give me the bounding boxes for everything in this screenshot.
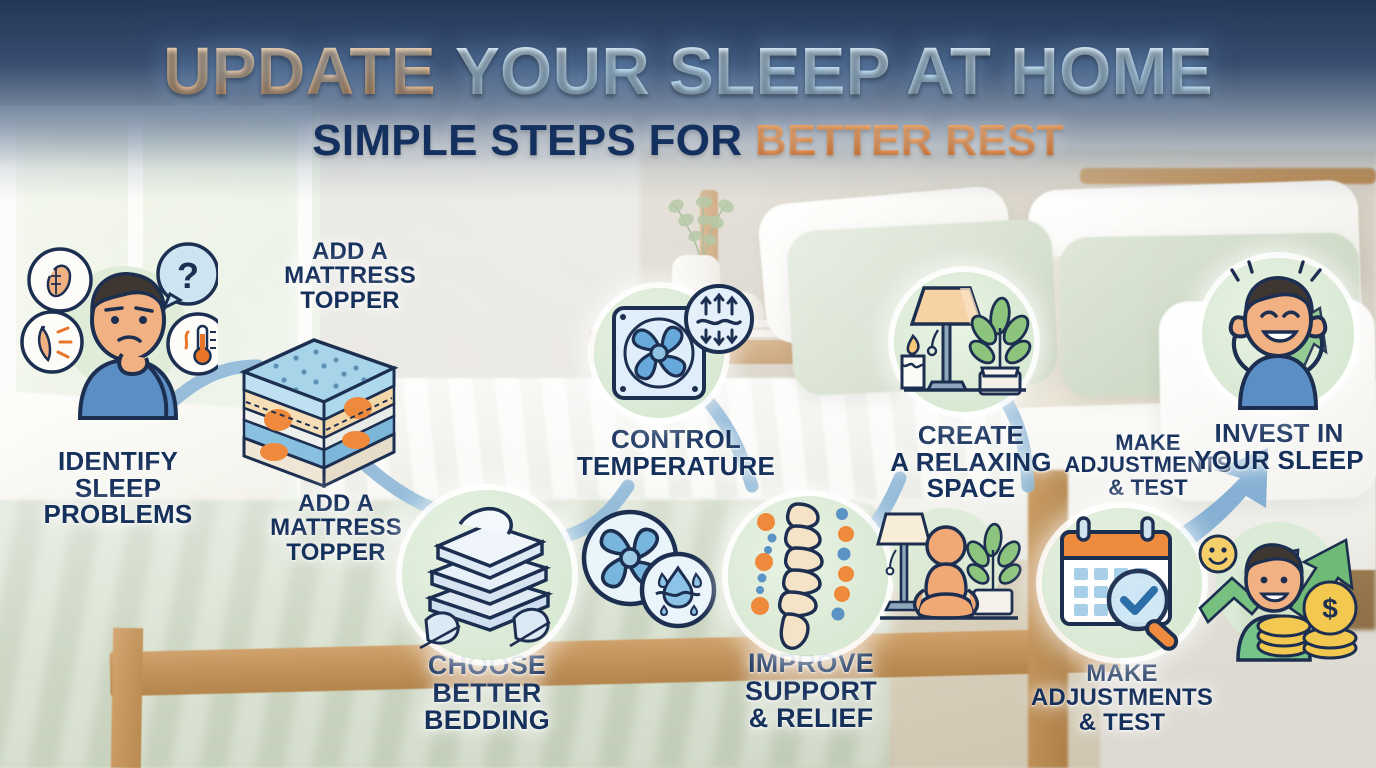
main-title: UPDATE YOUR SLEEP AT HOME bbox=[163, 38, 1213, 105]
fan-humidity-icon bbox=[578, 506, 718, 637]
step-label: CHOOSE BETTER BEDDING bbox=[392, 652, 582, 735]
airflow-badge-icon bbox=[682, 282, 756, 356]
step-label: CREATE A RELAXING SPACE bbox=[876, 422, 1066, 502]
coins-growth-icon: $ bbox=[1180, 512, 1376, 667]
mattress-layers-icon bbox=[226, 328, 406, 488]
svg-text:?: ? bbox=[177, 255, 199, 296]
thinking-person-icon: ? bbox=[18, 232, 218, 422]
step-add-a-mattress-topper[interactable] bbox=[226, 328, 406, 488]
happy-person-growth-icon bbox=[1202, 258, 1354, 410]
main-title-rest: YOUR SLEEP AT HOME bbox=[455, 34, 1213, 109]
step-invest-in-your-sleep[interactable]: INVEST IN YOUR SLEEP bbox=[1186, 258, 1372, 473]
step-label: ADD A MATTRESS TOPPER bbox=[250, 240, 450, 313]
step-label: MAKE ADJUSTMENTS & TEST bbox=[1022, 662, 1222, 735]
step-control-temperature[interactable]: CONTROL TEMPERATURE bbox=[576, 288, 776, 479]
subtitle-lead: SIMPLE STEPS FOR bbox=[312, 116, 742, 165]
lamp-candle-plant-icon bbox=[894, 272, 1034, 412]
bed-leg bbox=[111, 628, 143, 768]
step-choose-better-bedding[interactable]: CHOOSE BETTER BEDDING bbox=[392, 490, 582, 735]
spine-icon bbox=[728, 496, 888, 656]
svg-text:$: $ bbox=[1322, 593, 1338, 624]
meditation-person-icon bbox=[866, 494, 1026, 649]
calendar-magnifier-icon bbox=[1042, 508, 1202, 658]
step-label: IMPROVE SUPPORT & RELIEF bbox=[716, 650, 906, 733]
step-identify-sleep-problems[interactable]: ? IDENTIFY SLEEP PROBLEMS bbox=[18, 232, 218, 528]
folded-linens-icon bbox=[402, 490, 572, 660]
title-block: UPDATE YOUR SLEEP AT HOME SIMPLE STEPS F… bbox=[0, 0, 1376, 200]
step-add-a-mattress-topper-top-label[interactable]: ADD A MATTRESS TOPPER bbox=[250, 240, 450, 313]
subtitle: SIMPLE STEPS FOR BETTER REST bbox=[312, 119, 1064, 163]
infographic-canvas: ? IDENTIFY SLEEP PROBLEMS ADD A MATTRESS… bbox=[0, 0, 1376, 768]
step-label: INVEST IN YOUR SLEEP bbox=[1186, 420, 1372, 473]
main-title-highlight: UPDATE bbox=[163, 34, 436, 109]
step-label: CONTROL TEMPERATURE bbox=[576, 426, 776, 479]
step-create-a-relaxing-space[interactable]: CREATE A RELAXING SPACE bbox=[876, 272, 1066, 502]
step-label: IDENTIFY SLEEP PROBLEMS bbox=[18, 448, 218, 528]
subtitle-highlight: BETTER REST bbox=[755, 116, 1064, 165]
